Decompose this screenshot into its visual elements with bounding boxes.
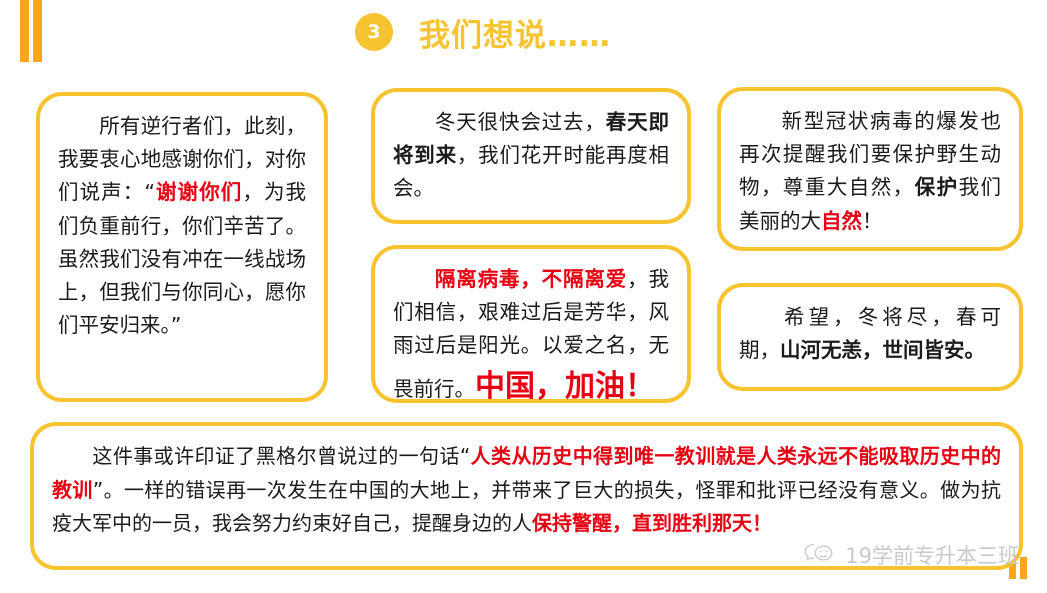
spring-card: 冬天很快会过去，春天即将到来，我们花开时能再度相会。 [371, 88, 691, 224]
virus-card: 新型冠状病毒的爆发也再次提醒我们要保护野生动物，尊重大自然，保护我们美丽的大自然… [717, 87, 1023, 251]
top-left-bar-2 [33, 0, 42, 62]
slide-header: 3 我们想说…… [355, 8, 611, 56]
hope-card: 希望，冬将尽，春可期，山河无恙，世间皆安。 [717, 283, 1023, 391]
reflection-card-text: 这件事或许印证了黑格尔曾说过的一句话“人类从历史中得到唯一教训就是人类永远不能吸… [52, 440, 1001, 541]
love-card-text: 隔离病毒，不隔离爱，我们相信，艰难过后是芳华，风雨过后是阳光。以爱之名，无畏前行… [393, 263, 669, 411]
love-card: 隔离病毒，不隔离爱，我们相信，艰难过后是芳华，风雨过后是阳光。以爱之名，无畏前行… [371, 245, 691, 403]
top-left-bar-1 [20, 0, 29, 62]
slide-canvas: 3 我们想说…… 所有逆行者们，此刻，我要衷心地感谢你们，对你们说声：“谢谢你们… [0, 0, 1047, 593]
spring-card-text: 冬天很快会过去，春天即将到来，我们花开时能再度相会。 [393, 106, 669, 206]
page-title: 我们想说…… [419, 10, 611, 55]
hope-card-text: 希望，冬将尽，春可期，山河无恙，世间皆安。 [739, 301, 1001, 367]
reflection-card: 这件事或许印证了黑格尔曾说过的一句话“人类从历史中得到唯一教训就是人类永远不能吸… [30, 422, 1023, 570]
virus-card-text: 新型冠状病毒的爆发也再次提醒我们要保护野生动物，尊重大自然，保护我们美丽的大自然… [739, 105, 1001, 238]
thanks-card: 所有逆行者们，此刻，我要衷心地感谢你们，对你们说声：“谢谢你们，为我们负重前行，… [36, 92, 328, 402]
section-number-badge: 3 [355, 13, 393, 51]
thanks-card-text: 所有逆行者们，此刻，我要衷心地感谢你们，对你们说声：“谢谢你们，为我们负重前行，… [58, 110, 306, 342]
bottom-right-bar-2 [1020, 557, 1027, 579]
